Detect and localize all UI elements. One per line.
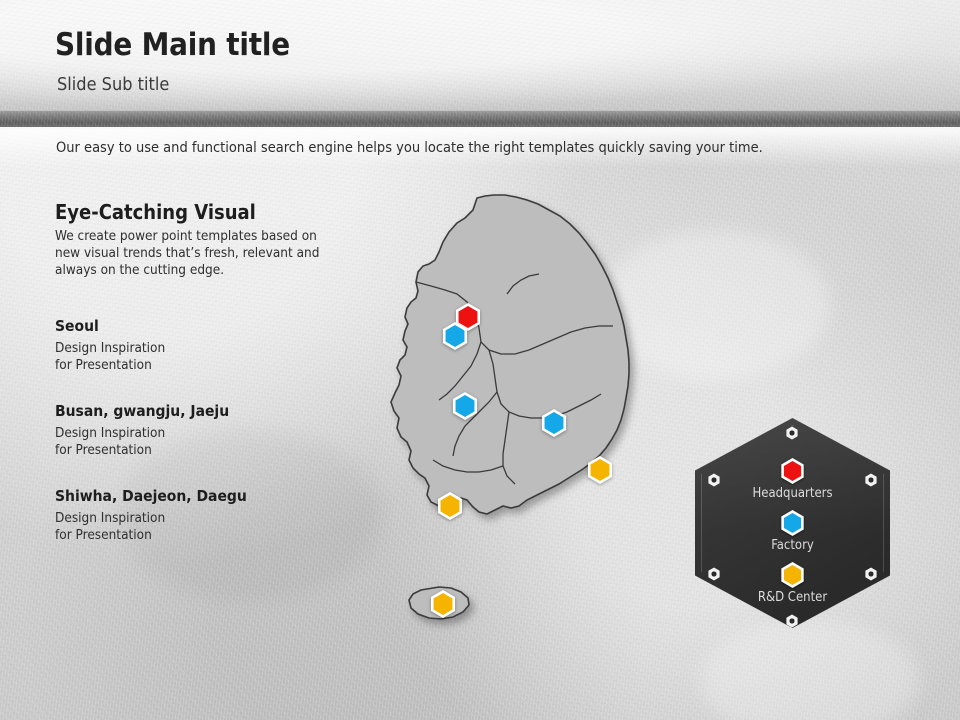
map-marker-rd-center[interactable]	[436, 492, 464, 520]
marker-fill	[444, 325, 466, 347]
marker-fill	[439, 495, 461, 517]
marker-fill	[543, 412, 565, 434]
marker-fill	[589, 459, 611, 481]
spacer	[55, 283, 395, 317]
body-line: Design Inspiration	[55, 340, 165, 356]
body-line: always on the cutting edge.	[55, 262, 224, 278]
text-block-seoul: Seoul Design Inspiration for Presentatio…	[55, 317, 395, 374]
block-heading: Shiwha, Daejeon, Daegu	[55, 487, 395, 505]
body-line: for Presentation	[55, 527, 152, 543]
body-line: for Presentation	[55, 357, 152, 373]
map-landmass	[391, 195, 629, 619]
hexagon-marker-icon	[780, 510, 806, 536]
legend-item-headquarters[interactable]: Headquarters	[695, 458, 890, 501]
hexagon-marker-icon	[780, 562, 806, 588]
map-marker-factory[interactable]	[540, 409, 568, 437]
block-heading: Eye-Catching Visual	[55, 200, 395, 224]
legend-item-label: Factory	[695, 538, 890, 553]
body-line: We create power point templates based on	[55, 228, 317, 244]
header-bar-texture	[0, 111, 960, 127]
map-marker-factory[interactable]	[451, 392, 479, 420]
block-heading: Seoul	[55, 317, 395, 335]
legend-item-label: R&D Center	[695, 590, 890, 605]
legend-panel: Headquarters Factory R&D Center	[695, 418, 890, 628]
block-body: Design Inspiration for Presentation	[55, 425, 395, 459]
block-body: Design Inspiration for Presentation	[55, 510, 395, 544]
text-block-busan: Busan, gwangju, Jaeju Design Inspiration…	[55, 402, 395, 459]
page-subtitle: Slide Sub title	[57, 74, 169, 95]
marker-fill	[454, 395, 476, 417]
map-svg	[385, 190, 675, 650]
legend-marker-fill	[783, 513, 803, 533]
text-block-visual: Eye-Catching Visual We create power poin…	[55, 200, 395, 279]
bg-blotch	[700, 620, 920, 720]
body-line: Design Inspiration	[55, 425, 165, 441]
page-title: Slide Main title	[55, 27, 290, 63]
map-marker-rd-center[interactable]	[586, 456, 614, 484]
map-marker-rd-center[interactable]	[429, 590, 457, 618]
map-marker-factory[interactable]	[441, 322, 469, 350]
legend-item-label: Headquarters	[695, 486, 890, 501]
south-korea-map	[385, 190, 675, 650]
marker-fill	[432, 593, 454, 615]
block-heading: Busan, gwangju, Jaeju	[55, 402, 395, 420]
header-divider-bar	[0, 111, 960, 127]
legend-item-rd-center[interactable]: R&D Center	[695, 562, 890, 605]
spacer	[55, 463, 395, 487]
block-body: We create power point templates based on…	[55, 228, 395, 279]
body-line: Design Inspiration	[55, 510, 165, 526]
block-body: Design Inspiration for Presentation	[55, 340, 395, 374]
body-line: for Presentation	[55, 442, 152, 458]
hexagon-marker-icon	[780, 458, 806, 484]
legend-marker-fill	[783, 461, 803, 481]
text-block-shiwha: Shiwha, Daejeon, Daegu Design Inspiratio…	[55, 487, 395, 544]
body-line: new visual trends that’s fresh, relevant…	[55, 245, 319, 261]
spacer	[55, 378, 395, 402]
slide-canvas: Slide Main title Slide Sub title Our eas…	[0, 0, 960, 720]
legend-marker-fill	[783, 565, 803, 585]
left-text-column: Eye-Catching Visual We create power poin…	[55, 200, 395, 548]
lead-paragraph: Our easy to use and functional search en…	[56, 140, 763, 156]
legend-item-factory[interactable]: Factory	[695, 510, 890, 553]
